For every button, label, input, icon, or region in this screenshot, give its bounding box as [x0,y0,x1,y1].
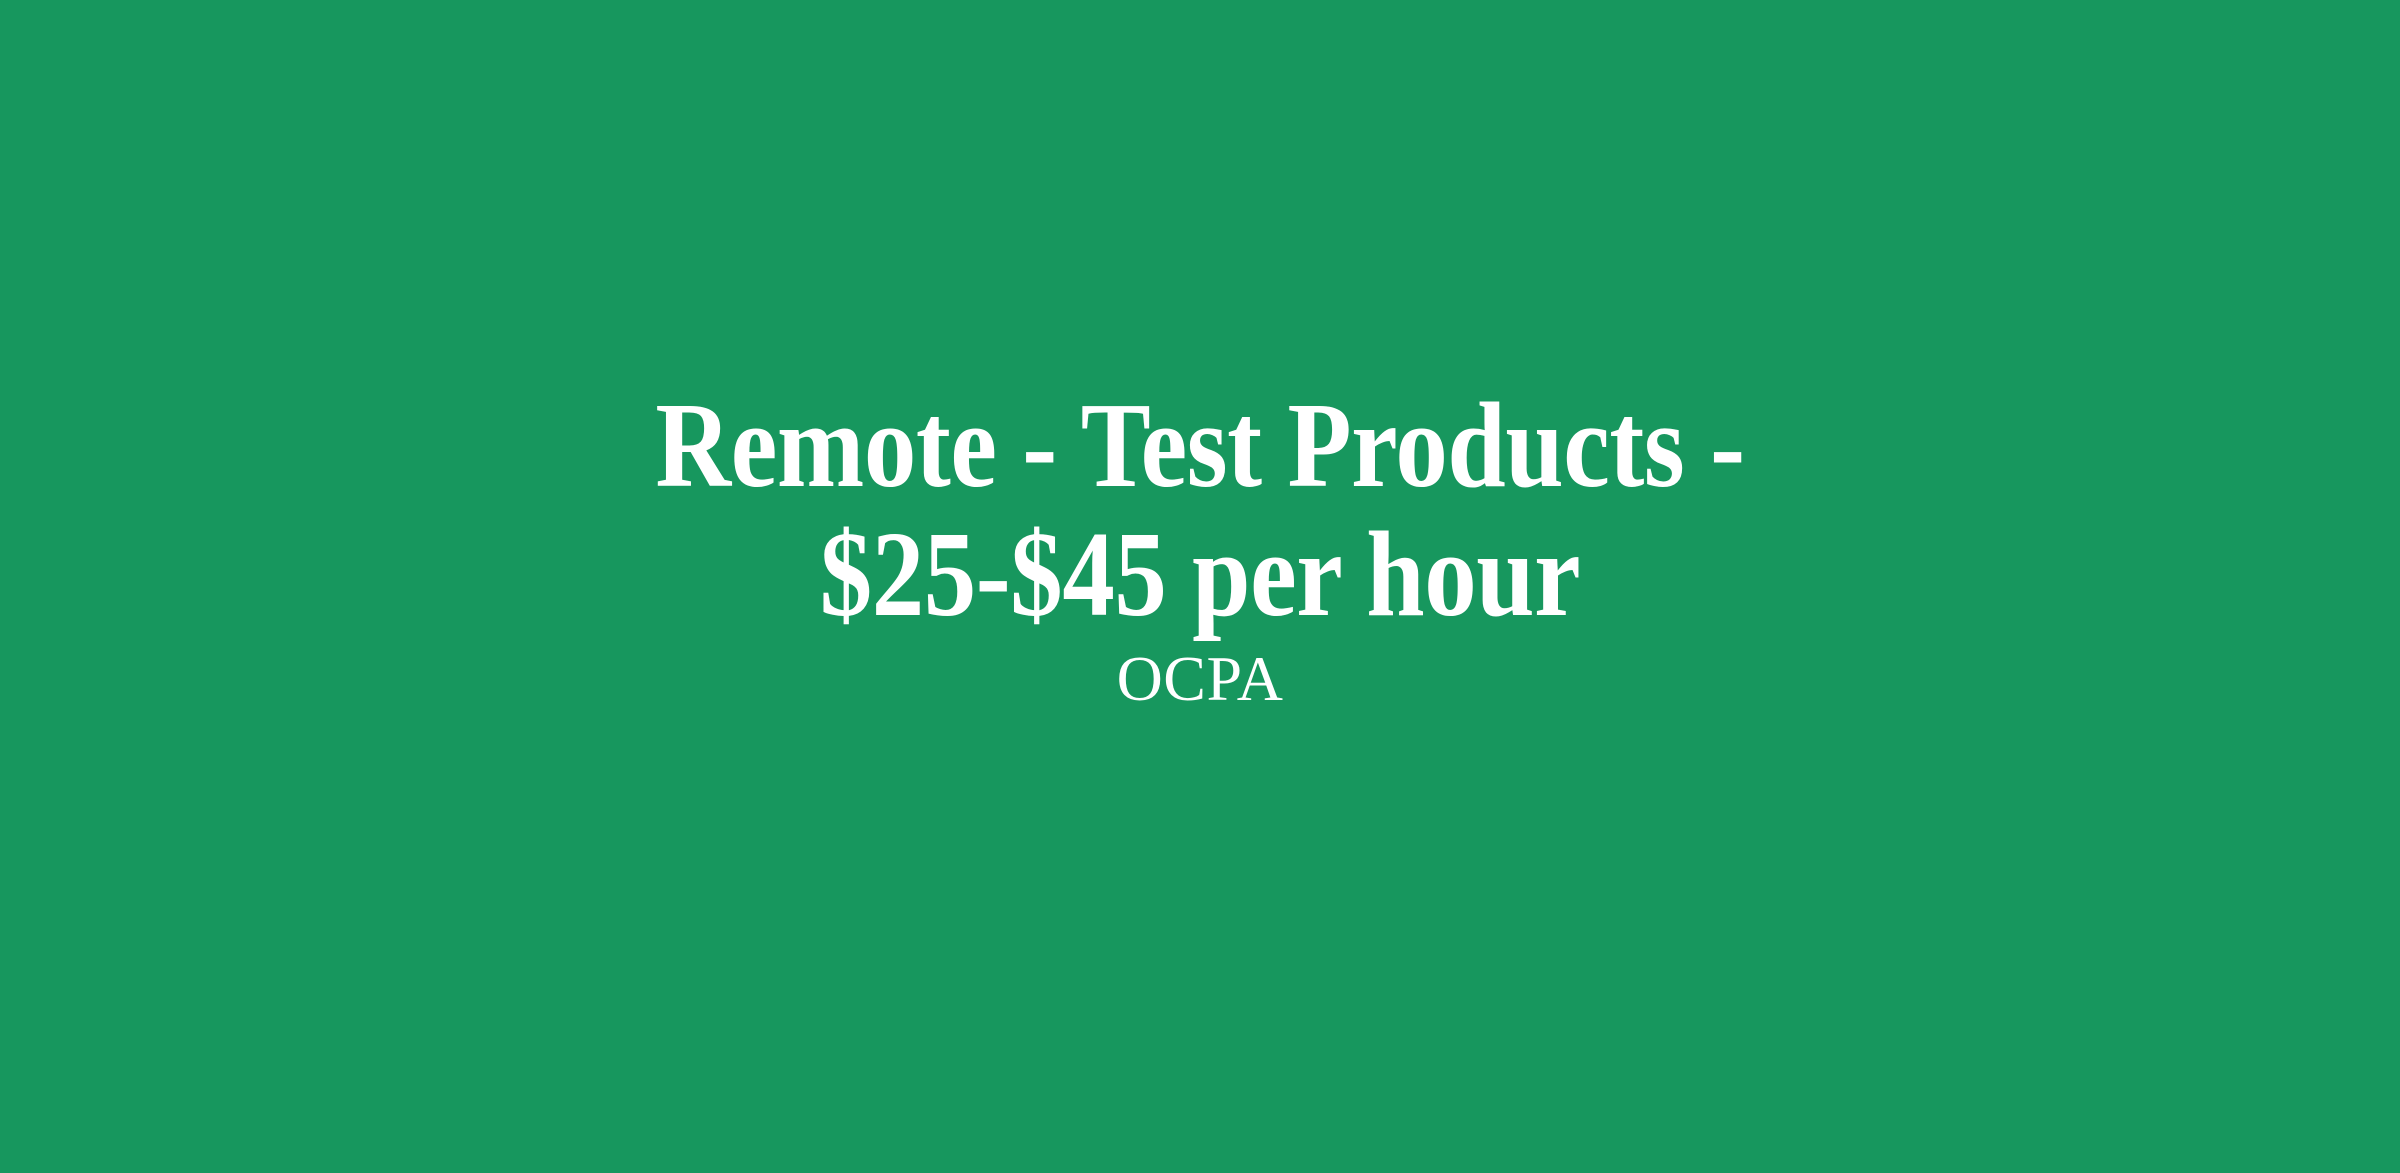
promo-banner: Remote - Test Products - $25-$45 per hou… [0,0,2400,1173]
banner-text-block: Remote - Test Products - $25-$45 per hou… [470,381,1930,714]
banner-subtitle: OCPA [1117,644,1284,714]
banner-headline: Remote - Test Products - $25-$45 per hou… [572,381,1828,640]
